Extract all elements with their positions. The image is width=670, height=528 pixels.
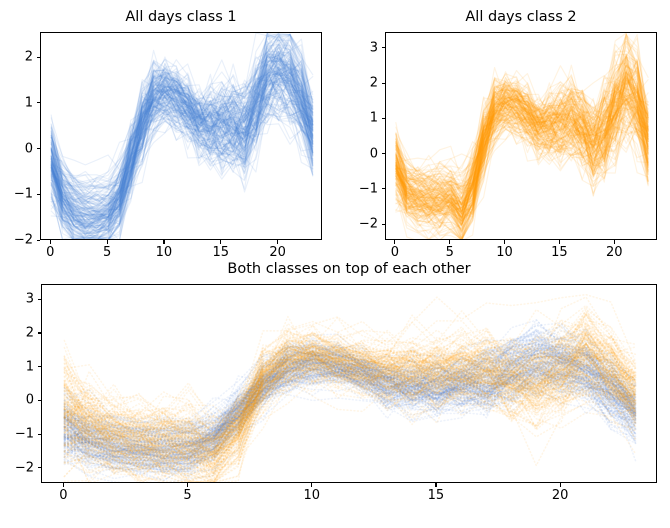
x-tick-mark xyxy=(394,240,395,244)
y-tick-label: −2 xyxy=(14,234,33,247)
y-tick-mark xyxy=(382,153,386,154)
matplotlib-figure: All days class 1 All days class 2 Both c… xyxy=(0,0,670,528)
y-tick-mark xyxy=(38,467,42,468)
y-tick-mark xyxy=(382,188,386,189)
x-tick-mark xyxy=(311,483,312,487)
x-tick-mark xyxy=(559,240,560,244)
x-tick-label: 20 xyxy=(606,246,623,259)
x-tick-mark xyxy=(63,483,64,487)
x-tick-mark xyxy=(560,483,561,487)
x-tick-label: 20 xyxy=(552,489,569,502)
axes-class1 xyxy=(40,32,322,240)
x-tick-label: 5 xyxy=(183,489,191,502)
x-tick-mark xyxy=(435,483,436,487)
x-tick-mark xyxy=(277,240,278,244)
y-tick-mark xyxy=(382,83,386,84)
x-tick-label: 0 xyxy=(391,246,399,259)
y-tick-mark xyxy=(382,118,386,119)
x-tick-label: 15 xyxy=(428,489,445,502)
y-tick-mark xyxy=(37,148,41,149)
axes-title-class2: All days class 2 xyxy=(385,10,657,25)
y-tick-mark xyxy=(38,400,42,401)
y-tick-label: 2 xyxy=(26,326,34,339)
y-tick-mark xyxy=(37,102,41,103)
y-tick-mark xyxy=(38,299,42,300)
y-tick-label: 0 xyxy=(26,394,34,407)
x-tick-label: 5 xyxy=(103,246,111,259)
y-tick-mark xyxy=(37,194,41,195)
y-tick-label: −1 xyxy=(14,188,33,201)
y-tick-label: −1 xyxy=(359,182,378,195)
y-tick-label: 1 xyxy=(370,112,378,125)
axes-class2 xyxy=(385,32,657,240)
x-tick-mark xyxy=(449,240,450,244)
y-tick-label: 0 xyxy=(25,142,33,155)
x-tick-label: 15 xyxy=(213,246,230,259)
y-tick-mark xyxy=(37,57,41,58)
plot-area-both xyxy=(42,285,657,483)
x-tick-mark xyxy=(163,240,164,244)
y-tick-label: 2 xyxy=(370,77,378,90)
y-tick-label: 1 xyxy=(25,96,33,109)
axes-title-class1: All days class 1 xyxy=(40,10,322,25)
plot-area-class2 xyxy=(386,33,657,240)
x-tick-label: 5 xyxy=(446,246,454,259)
x-tick-label: 20 xyxy=(269,246,286,259)
x-tick-mark xyxy=(50,240,51,244)
plot-area-class1 xyxy=(41,33,322,240)
x-tick-label: 0 xyxy=(59,489,67,502)
x-tick-mark xyxy=(504,240,505,244)
y-tick-label: 2 xyxy=(25,51,33,64)
y-tick-label: −2 xyxy=(359,218,378,231)
y-tick-mark xyxy=(38,434,42,435)
y-tick-label: 3 xyxy=(26,293,34,306)
y-tick-mark xyxy=(382,224,386,225)
x-tick-label: 10 xyxy=(156,246,173,259)
x-tick-label: 10 xyxy=(496,246,513,259)
x-tick-mark xyxy=(220,240,221,244)
axes-title-both: Both classes on top of each other xyxy=(41,262,657,277)
x-tick-mark xyxy=(107,240,108,244)
x-tick-label: 0 xyxy=(46,246,54,259)
x-tick-label: 15 xyxy=(551,246,568,259)
y-tick-label: 0 xyxy=(370,147,378,160)
y-tick-label: −2 xyxy=(15,461,34,474)
axes-both xyxy=(41,284,657,483)
y-tick-label: 1 xyxy=(26,360,34,373)
x-tick-mark xyxy=(614,240,615,244)
y-tick-mark xyxy=(38,366,42,367)
x-tick-mark xyxy=(187,483,188,487)
y-tick-label: −1 xyxy=(15,428,34,441)
x-tick-label: 10 xyxy=(303,489,320,502)
y-tick-mark xyxy=(382,47,386,48)
y-tick-mark xyxy=(38,332,42,333)
y-tick-label: 3 xyxy=(370,41,378,54)
y-tick-mark xyxy=(37,240,41,241)
